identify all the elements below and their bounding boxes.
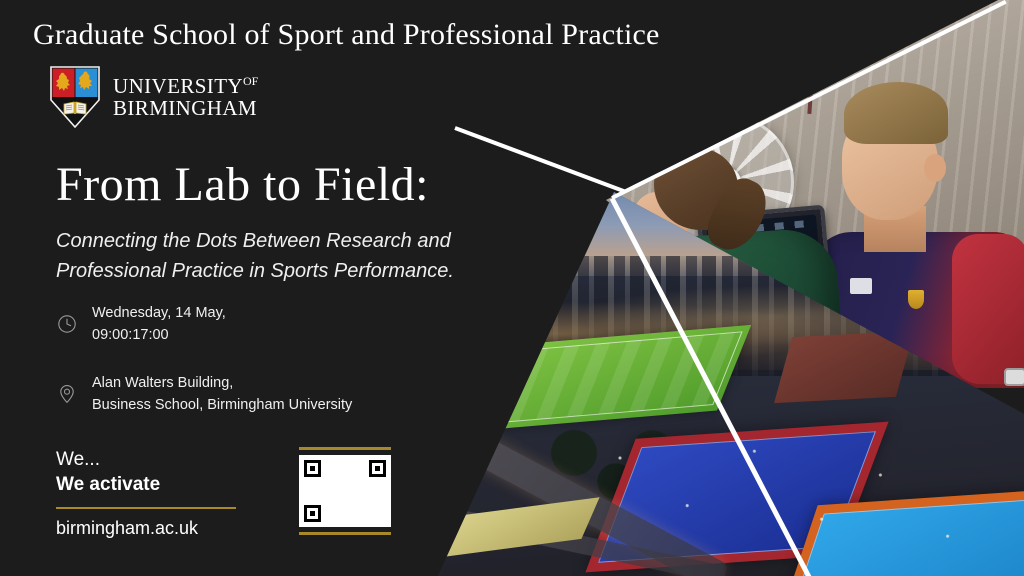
event-date: Wednesday, 14 May, xyxy=(92,305,226,321)
event-datetime-row: Wednesday, 14 May, 09:00:17:00 xyxy=(56,302,526,346)
location-line1: Alan Walters Building, xyxy=(92,375,233,391)
street-lights xyxy=(578,424,998,576)
university-crest-icon xyxy=(50,66,100,128)
event-location-text: Alan Walters Building, Business School, … xyxy=(92,372,352,416)
event-poster: 51 xyxy=(0,0,1024,576)
birmingham-word: BIRMINGHAM xyxy=(113,98,258,119)
school-title: Graduate School of Sport and Professiona… xyxy=(33,18,660,52)
brand-footer: We... We activate birmingham.ac.uk xyxy=(56,448,236,539)
qr-finder-top-right xyxy=(369,460,386,477)
qr-gold-bar-bottom xyxy=(299,532,391,535)
gold-divider xyxy=(56,507,236,509)
coach-ear xyxy=(924,154,946,182)
coach-hair xyxy=(844,82,948,144)
location-line2: Business School, Birmingham University xyxy=(92,397,352,413)
event-details: Wednesday, 14 May, 09:00:17:00 Alan Walt… xyxy=(56,302,526,442)
qr-pattern xyxy=(302,458,388,524)
tagline-line-1: We... xyxy=(56,448,236,473)
qr-finder-bottom-left xyxy=(304,505,321,522)
coach-wristwatch xyxy=(1004,368,1024,386)
university-word: UNIVERSITY xyxy=(113,74,243,98)
poster-content: Graduate School of Sport and Professiona… xyxy=(0,0,620,576)
of-word: OF xyxy=(243,74,258,88)
event-title: From Lab to Field: xyxy=(56,157,429,212)
qr-code[interactable] xyxy=(299,455,391,527)
event-datetime-text: Wednesday, 14 May, 09:00:17:00 xyxy=(92,302,226,346)
university-wordmark: UNIVERSITYOF BIRMINGHAM xyxy=(113,75,258,119)
coach-sleeve xyxy=(952,234,1024,384)
event-subtitle: Connecting the Dots Between Research and… xyxy=(56,226,556,287)
tagline-line-2: We activate xyxy=(56,473,236,498)
coach-kit-crest xyxy=(908,290,924,309)
qr-code-block[interactable] xyxy=(299,447,391,535)
event-location-row: Alan Walters Building, Business School, … xyxy=(56,372,526,416)
website-url[interactable]: birmingham.ac.uk xyxy=(56,518,236,539)
clock-icon xyxy=(56,313,78,335)
event-time: 09:00:17:00 xyxy=(92,327,169,343)
location-pin-icon xyxy=(56,383,78,405)
qr-gold-bar-top xyxy=(299,447,391,450)
qr-finder-top-left xyxy=(304,460,321,477)
university-logo-lockup: UNIVERSITYOF BIRMINGHAM xyxy=(50,66,258,128)
